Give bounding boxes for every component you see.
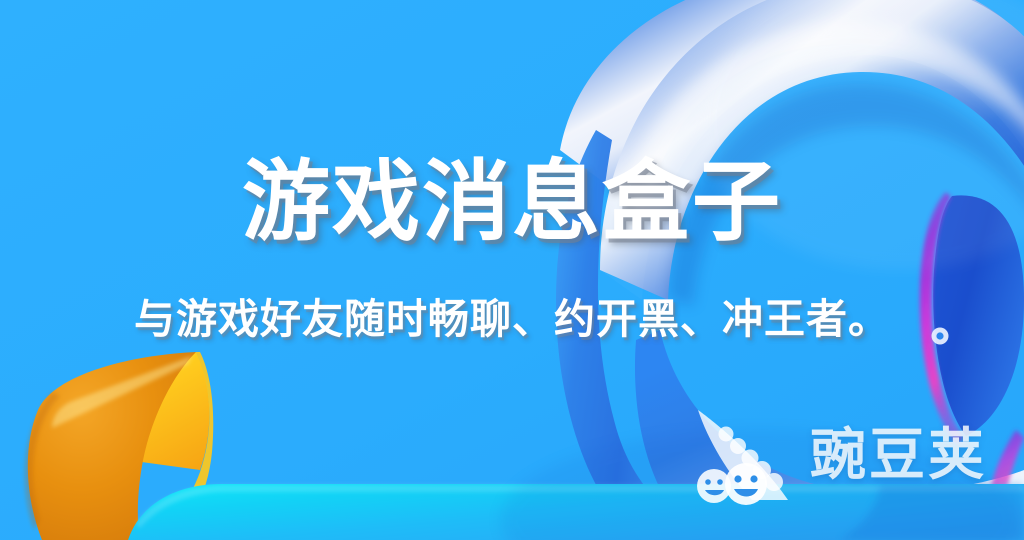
watermark-layer: 豌豆荚 (0, 0, 1024, 540)
pea-pod-icon (688, 404, 796, 508)
promo-banner: 游戏消息盒子 与游戏好友随时畅聊、约开黑、冲王者。 (0, 0, 1024, 540)
brand-watermark: 豌豆荚 (688, 404, 987, 508)
brand-name: 豌豆荚 (810, 428, 987, 484)
pea-face-large (725, 463, 767, 505)
